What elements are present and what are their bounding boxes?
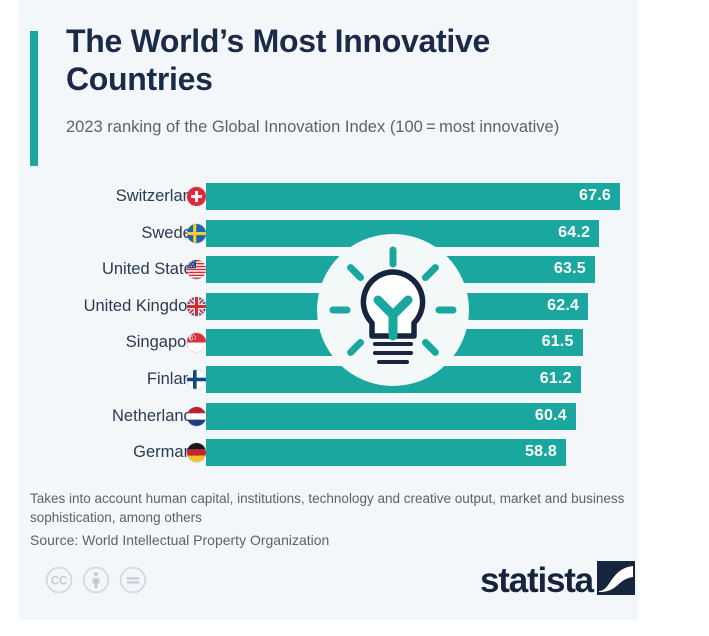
bar-value-label: 64.2 [558,224,590,242]
chart-row: Switzerland67.6 [19,183,638,213]
statista-logo[interactable]: statista [480,561,635,600]
flag-united-kingdom-icon [187,297,206,316]
creative-commons-badges: CC [45,566,147,599]
bar-value-label: 60.4 [535,407,567,425]
chart-row: United States63.5 [19,256,638,286]
no-derivatives-icon[interactable] [119,566,147,599]
bar-chart: Switzerland67.6Sweden64.2United States63… [19,183,638,475]
bar[interactable]: 67.6 [206,183,620,210]
bar[interactable]: 64.2 [206,220,599,247]
svg-text:CC: CC [51,575,68,587]
flag-united-states-icon [187,260,206,279]
statista-wordmark: statista [480,563,593,598]
infographic-card: The World’s Most Innovative Countries 20… [19,0,638,620]
bar-value-label: 58.8 [525,443,557,461]
bar[interactable]: 61.2 [206,366,581,393]
bar-value-label: 61.2 [540,370,572,388]
flag-finland-icon [187,370,206,389]
page-title: The World’s Most Innovative Countries [66,22,586,98]
chart-row: Netherlands60.4 [19,403,638,433]
bar-value-label: 63.5 [554,260,586,278]
chart-row: Finland61.2 [19,366,638,396]
bar-value-label: 62.4 [547,297,579,315]
flag-germany-icon [187,443,206,462]
flag-sweden-icon [187,224,206,243]
statista-logo-mark [597,561,635,600]
flag-singapore-icon [187,333,206,352]
chart-row: Sweden64.2 [19,220,638,250]
bar[interactable]: 60.4 [206,403,576,430]
bar-value-label: 67.6 [579,187,611,205]
bar[interactable]: 62.4 [206,293,588,320]
bar[interactable]: 63.5 [206,256,595,283]
country-label: United Kingdom [84,297,201,316]
footnote-text: Takes into account human capital, instit… [30,490,630,527]
bar[interactable]: 61.5 [206,329,583,356]
chart-row: United Kingdom62.4 [19,293,638,323]
flag-netherlands-icon [187,407,206,426]
flag-switzerland-icon [187,187,206,206]
title-accent-bar [30,31,38,166]
chart-row: Germany58.8 [19,439,638,469]
bar[interactable]: 58.8 [206,439,566,466]
page-subtitle: 2023 ranking of the Global Innovation In… [66,116,586,139]
bar-value-label: 61.5 [542,333,574,351]
chart-row: Singapore61.5 [19,329,638,359]
source-text: Source: World Intellectual Property Orga… [30,532,630,548]
creative-commons-icon[interactable]: CC [45,566,73,599]
attribution-icon[interactable] [82,566,110,599]
